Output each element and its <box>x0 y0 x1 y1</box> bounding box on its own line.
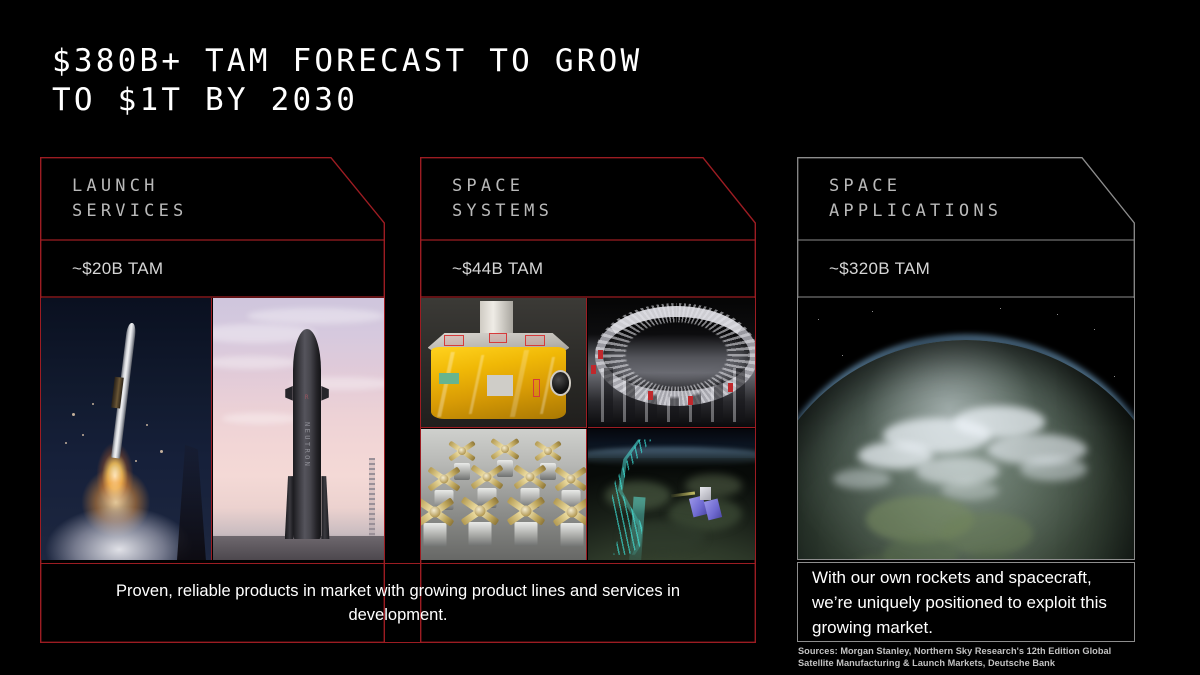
image-orbital-scan-visualization <box>588 429 755 560</box>
media-space-systems <box>421 298 755 560</box>
card-tam-text: ~$44B TAM <box>420 259 543 279</box>
rocketlab-logo: R <box>305 394 309 401</box>
page-title: $380B+ TAM FORECAST TO GROW TO $1T BY 20… <box>52 42 952 120</box>
card-tam-space-applications: ~$320B TAM <box>797 240 1135 297</box>
card-heading-text: SPACE SYSTEMS <box>420 174 553 224</box>
neutron-wordmark: NEUTRON <box>303 422 311 468</box>
caption-left: Proven, reliable products in market with… <box>40 563 756 643</box>
image-earth-from-orbit <box>798 298 1134 559</box>
card-heading-launch-services: LAUNCH SERVICES <box>40 157 385 240</box>
image-neutron-rocket-render: R NEUTRON <box>213 298 384 560</box>
card-heading-text: LAUNCH SERVICES <box>40 174 187 224</box>
card-space-applications: SPACE APPLICATIONS ~$320B TAM <box>797 157 1135 560</box>
image-separation-ring <box>588 298 755 428</box>
caption-right-text: With our own rockets and spacecraft, we’… <box>798 565 1134 640</box>
card-heading-space-applications: SPACE APPLICATIONS <box>797 157 1135 240</box>
sources-note: Sources: Morgan Stanley, Northern Sky Re… <box>798 645 1148 670</box>
card-tam-launch-services: ~$20B TAM <box>40 240 385 297</box>
image-reaction-wheel-array <box>421 429 587 560</box>
image-gold-foil-satellite <box>421 298 587 428</box>
card-heading-space-systems: SPACE SYSTEMS <box>420 157 756 240</box>
media-launch-services: R NEUTRON <box>41 298 384 560</box>
card-heading-text: SPACE APPLICATIONS <box>797 174 1002 224</box>
card-tam-text: ~$20B TAM <box>40 259 163 279</box>
media-space-applications <box>798 298 1134 559</box>
scan-satellite-icon <box>688 481 728 526</box>
image-electron-rocket-launch <box>41 298 212 560</box>
caption-left-text: Proven, reliable products in market with… <box>41 579 755 627</box>
card-tam-space-systems: ~$44B TAM <box>420 240 756 297</box>
caption-right: With our own rockets and spacecraft, we’… <box>797 562 1135 642</box>
card-tam-text: ~$320B TAM <box>797 259 930 279</box>
